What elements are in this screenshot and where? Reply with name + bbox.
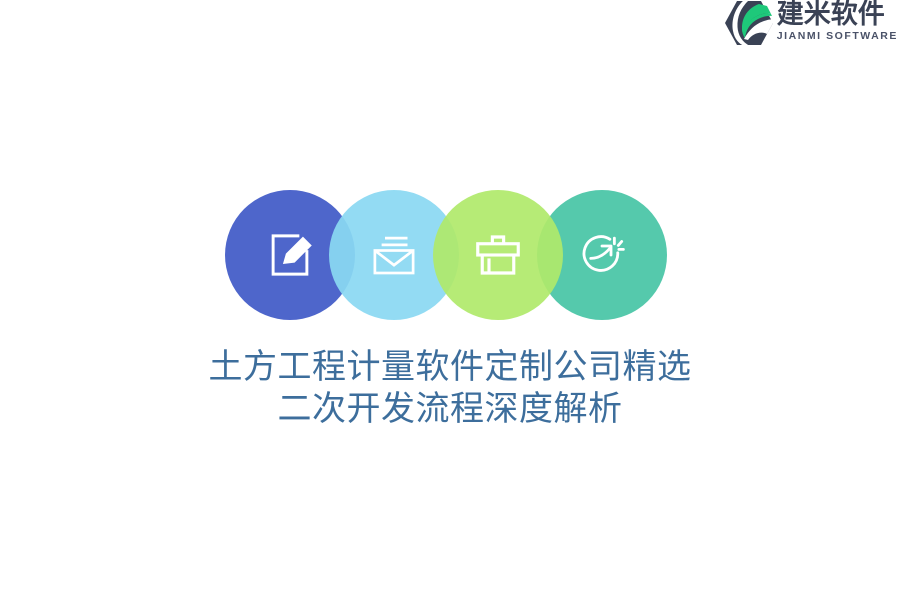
- brand-logo[interactable]: 建米软件 JIANMI SOFTWARE: [724, 0, 898, 48]
- brand-name-en: JIANMI SOFTWARE: [777, 30, 898, 43]
- page-title-line-1: 土方工程计量软件定制公司精选: [70, 346, 830, 388]
- icon-circle-row: [225, 190, 675, 320]
- jianmi-hexagon-leaf-logo-icon: [724, 0, 774, 46]
- hero-section: 土方工程计量软件定制公司精选 二次开发流程深度解析: [0, 190, 900, 430]
- brand-name-cn: 建米软件: [777, 0, 898, 29]
- dashboard-gauge-icon: [575, 228, 629, 282]
- circle-briefcase[interactable]: [433, 190, 563, 320]
- edit-pencil-icon: [263, 228, 317, 282]
- mail-envelope-icon: [367, 228, 421, 282]
- briefcase-icon: [471, 228, 525, 282]
- page-title-line-2: 二次开发流程深度解析: [70, 388, 830, 430]
- page-title: 土方工程计量软件定制公司精选 二次开发流程深度解析: [70, 346, 830, 430]
- brand-text-block: 建米软件 JIANMI SOFTWARE: [777, 0, 898, 43]
